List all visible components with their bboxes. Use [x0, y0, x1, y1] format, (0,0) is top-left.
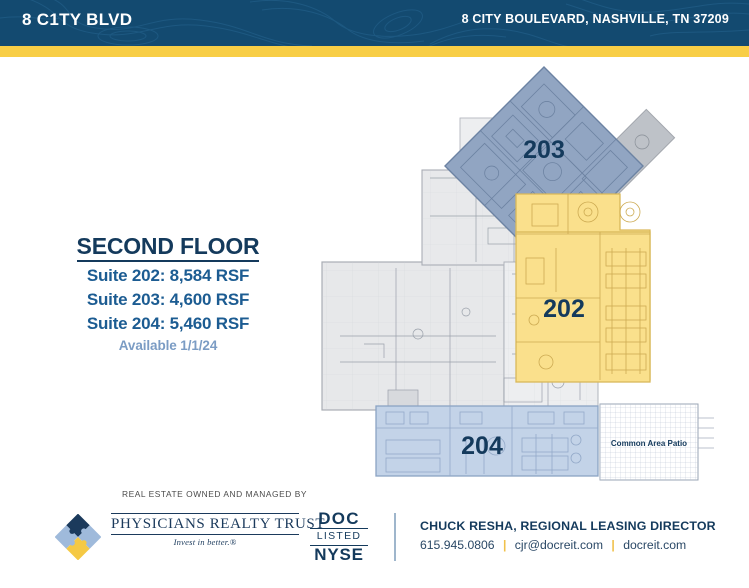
logo-rule-bottom	[111, 534, 299, 535]
patio-label: Common Area Patio	[611, 439, 687, 448]
physicians-realty-trust-logo: PHYSICIANS REALTY TRUST Invest in better…	[55, 512, 295, 564]
suite-204-region[interactable]: 204	[376, 406, 598, 476]
page-header: 8 C1TY BLVD 8 CITY BOULEVARD, NASHVILLE,…	[0, 0, 749, 46]
suite-202-region[interactable]: 202	[516, 194, 650, 382]
suite-202-line: Suite 202: 8,584 RSF	[52, 266, 284, 286]
contact-email[interactable]: cjr@docreit.com	[515, 538, 603, 552]
suite-202-label: 202	[543, 295, 585, 323]
separator-2: |	[606, 538, 619, 552]
separator-1: |	[498, 538, 511, 552]
listed-label: LISTED	[310, 529, 368, 544]
flyer-page: 8 C1TY BLVD 8 CITY BOULEVARD, NASHVILLE,…	[0, 0, 749, 588]
page-title: 8 C1TY BLVD	[22, 10, 132, 30]
suite-203-label: 203	[523, 136, 565, 164]
company-name: PHYSICIANS REALTY TRUST	[111, 514, 299, 534]
contact-block: CHUCK RESHA, REGIONAL LEASING DIRECTOR 6…	[420, 519, 716, 552]
footer-divider	[394, 513, 396, 561]
floor-title: SECOND FLOOR	[77, 234, 260, 262]
exchange-name: NYSE	[310, 546, 368, 564]
contact-name: CHUCK RESHA, REGIONAL LEASING DIRECTOR	[420, 519, 716, 533]
common-area-patio-region: Common Area Patio	[600, 404, 714, 480]
availability-note: Available 1/1/24	[52, 338, 284, 353]
puzzle-diamond-icon	[55, 514, 101, 560]
contact-website[interactable]: docreit.com	[623, 538, 686, 552]
suite-204-label: 204	[461, 432, 503, 460]
floor-info-block: SECOND FLOOR Suite 202: 8,584 RSF Suite …	[52, 234, 284, 353]
company-tagline: Invest in better.®	[111, 537, 299, 547]
owned-by-label: REAL ESTATE OWNED AND MANAGED BY	[122, 489, 307, 499]
contact-details: 615.945.0806 | cjr@docreit.com | docreit…	[420, 538, 716, 552]
contact-phone[interactable]: 615.945.0806	[420, 538, 495, 552]
floor-plan: 203	[300, 62, 720, 482]
ticker-symbol: DOC	[310, 510, 368, 528]
nyse-listing-logo: DOC LISTED NYSE	[310, 510, 368, 564]
property-address: 8 CITY BOULEVARD, NASHVILLE, TN 37209	[462, 12, 729, 26]
suite-204-line: Suite 204: 5,460 RSF	[52, 314, 284, 334]
suite-203-line: Suite 203: 4,600 RSF	[52, 290, 284, 310]
accent-stripe	[0, 46, 749, 57]
